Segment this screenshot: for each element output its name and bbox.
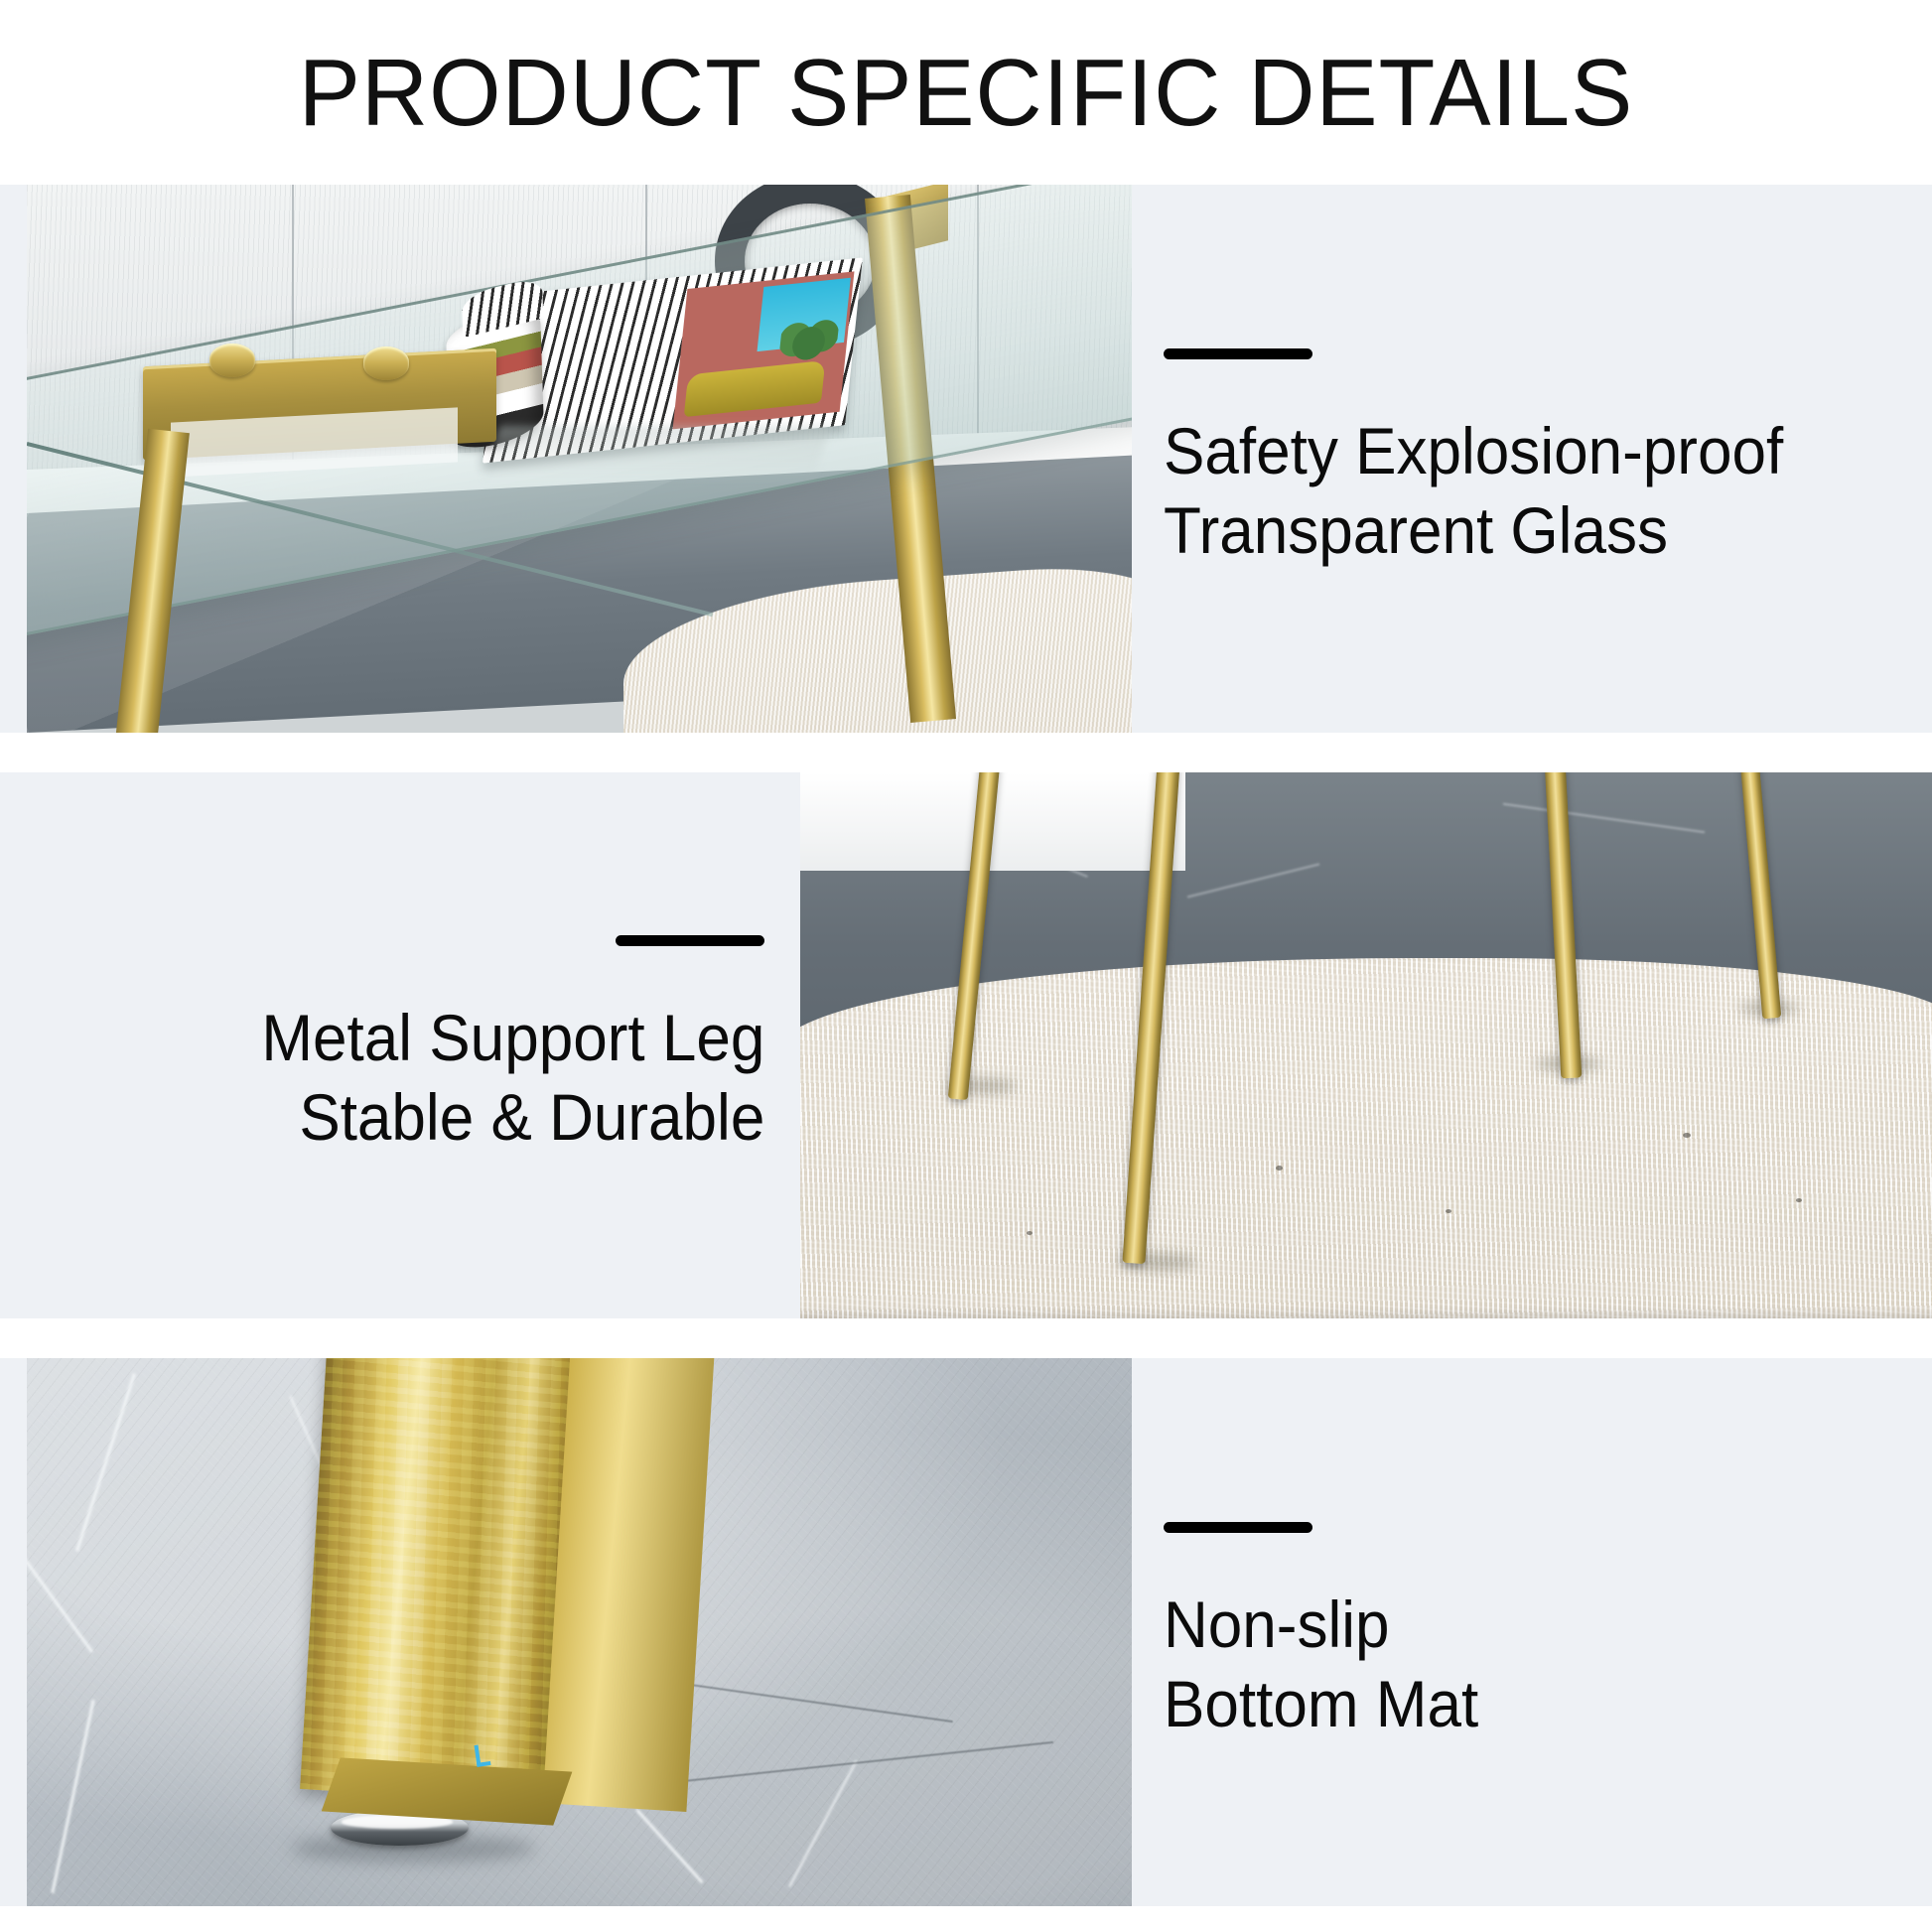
- screw-cap-icon: [363, 346, 409, 380]
- page-title: PRODUCT SPECIFIC DETAILS: [29, 42, 1903, 145]
- tile-vein: [1503, 802, 1705, 833]
- glass-reflection: [482, 426, 831, 481]
- caption-text: Safety Explosion-proof Transparent Glass: [1164, 411, 1783, 570]
- rug-speck: [1446, 1209, 1451, 1213]
- magazine-plant: [779, 315, 841, 362]
- magazine-sofa: [684, 360, 825, 417]
- caption-safety-glass: Safety Explosion-proof Transparent Glass: [1164, 185, 1859, 733]
- gold-leg-face: [543, 1358, 715, 1812]
- glass-tabletop-corner-photo: [27, 185, 1132, 733]
- detail-panel-safety-glass: Safety Explosion-proof Transparent Glass: [0, 185, 1932, 733]
- caption-non-slip-mat: Non-slip Bottom Mat: [1164, 1358, 1859, 1906]
- accent-dash-icon: [1164, 1522, 1312, 1533]
- caption-text: Non-slip Bottom Mat: [1164, 1585, 1478, 1743]
- rug-speck: [1027, 1231, 1033, 1235]
- blue-marker-icon: [474, 1743, 490, 1767]
- gold-table-legs-on-rug-photo: [800, 772, 1932, 1318]
- accent-dash-icon: [1164, 348, 1312, 359]
- caption-text: Metal Support Leg Stable & Durable: [261, 998, 764, 1157]
- caption-line: Stable & Durable: [261, 1077, 764, 1157]
- screw-cap-icon: [209, 344, 255, 377]
- caption-line: Metal Support Leg: [261, 998, 764, 1077]
- header: PRODUCT SPECIFIC DETAILS: [0, 0, 1932, 185]
- rug-speck: [1276, 1166, 1283, 1171]
- leg-foot-non-slip-mat-photo: [27, 1358, 1132, 1906]
- caption-line: Bottom Mat: [1164, 1664, 1478, 1743]
- accent-dash-icon: [616, 935, 764, 946]
- detail-panel-non-slip-mat: Non-slip Bottom Mat: [0, 1358, 1932, 1906]
- detail-panel-metal-support-leg: Metal Support Leg Stable & Durable: [0, 772, 1932, 1318]
- caption-line: Non-slip: [1164, 1585, 1478, 1664]
- tile-vein: [1186, 864, 1318, 898]
- caption-line: Safety Explosion-proof: [1164, 411, 1783, 490]
- magazine-interior-photo: [673, 271, 855, 429]
- caption-line: Transparent Glass: [1164, 490, 1783, 570]
- caption-metal-support-leg: Metal Support Leg Stable & Durable: [79, 772, 764, 1318]
- gold-leg-closeup: [300, 1358, 576, 1804]
